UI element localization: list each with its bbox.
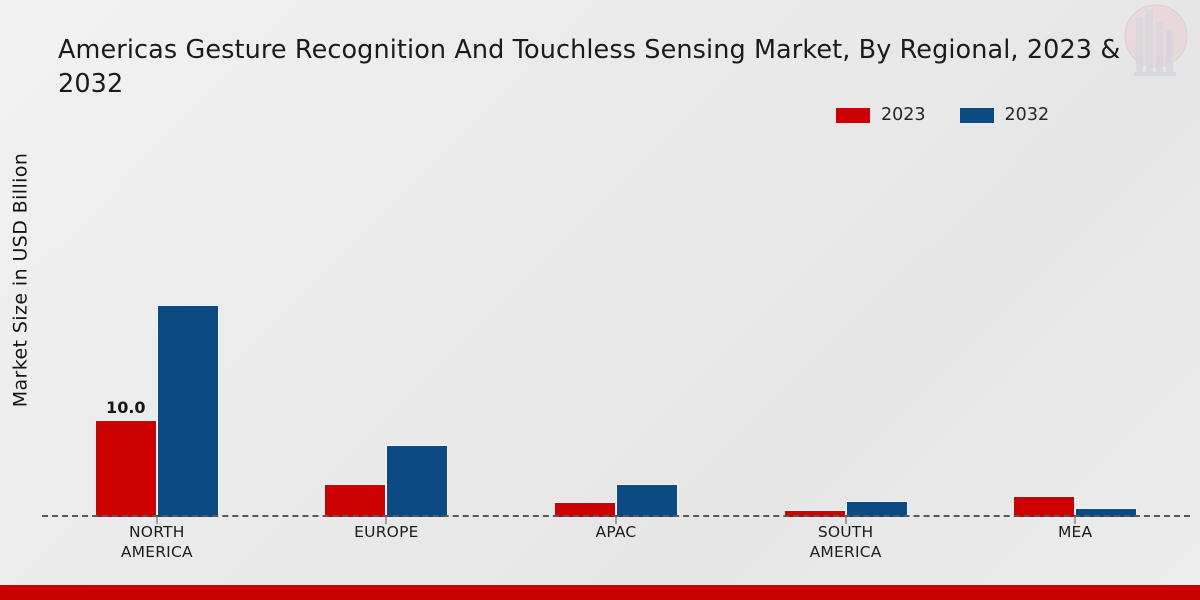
x-label-north-america: NORTH AMERICA	[42, 522, 272, 563]
chart-container: Americas Gesture Recognition And Touchle…	[0, 0, 1200, 600]
chart-legend: 2023 2032	[836, 107, 1049, 125]
x-label-north-america-line2: AMERICA	[42, 542, 272, 562]
legend-item-2032[interactable]: 2032	[960, 107, 1050, 125]
footer-accent-band	[0, 585, 1200, 600]
bar-value-north-america-2023: 10.0	[106, 398, 145, 417]
x-label-europe: EUROPE	[272, 522, 502, 563]
bar-mea-2023[interactable]	[1013, 496, 1075, 517]
bar-north-america-2032[interactable]	[157, 305, 219, 517]
x-label-south-america-line1: SOUTH	[818, 523, 874, 541]
bar-europe-2023[interactable]	[324, 484, 386, 517]
bar-groups: 10.0	[42, 150, 1190, 517]
bar-group-north-america: 10.0	[42, 150, 272, 517]
legend-item-2023[interactable]: 2023	[836, 107, 926, 125]
legend-label-2023: 2023	[881, 107, 926, 125]
bar-europe-2032[interactable]	[386, 445, 448, 517]
page-title: Americas Gesture Recognition And Touchle…	[58, 34, 1168, 101]
y-axis-title-text: Market Size in USD Billion	[9, 153, 31, 408]
x-label-south-america: SOUTH AMERICA	[731, 522, 961, 563]
legend-swatch-2032	[960, 108, 994, 123]
legend-label-2032: 2032	[1005, 107, 1050, 125]
x-label-mea: MEA	[960, 522, 1190, 563]
x-label-apac-line1: APAC	[596, 523, 637, 541]
x-label-europe-line1: EUROPE	[354, 523, 418, 541]
x-label-north-america-line1: NORTH	[129, 523, 185, 541]
plot-area: 10.0	[42, 150, 1190, 517]
bar-apac-2032[interactable]	[616, 484, 678, 517]
bar-group-apac	[501, 150, 731, 517]
y-axis-title: Market Size in USD Billion	[0, 0, 40, 560]
x-label-apac: APAC	[501, 522, 731, 563]
bar-group-mea	[960, 150, 1190, 517]
x-label-south-america-line2: AMERICA	[731, 542, 961, 562]
x-axis-labels: NORTH AMERICA EUROPE APAC SOUTH AMERICA …	[42, 522, 1190, 563]
bar-group-europe	[272, 150, 502, 517]
legend-swatch-2023	[836, 108, 870, 123]
bar-group-south-america	[731, 150, 961, 517]
bar-north-america-2023[interactable]: 10.0	[95, 420, 157, 517]
x-axis-baseline	[42, 515, 1190, 517]
x-label-mea-line1: MEA	[1058, 523, 1092, 541]
